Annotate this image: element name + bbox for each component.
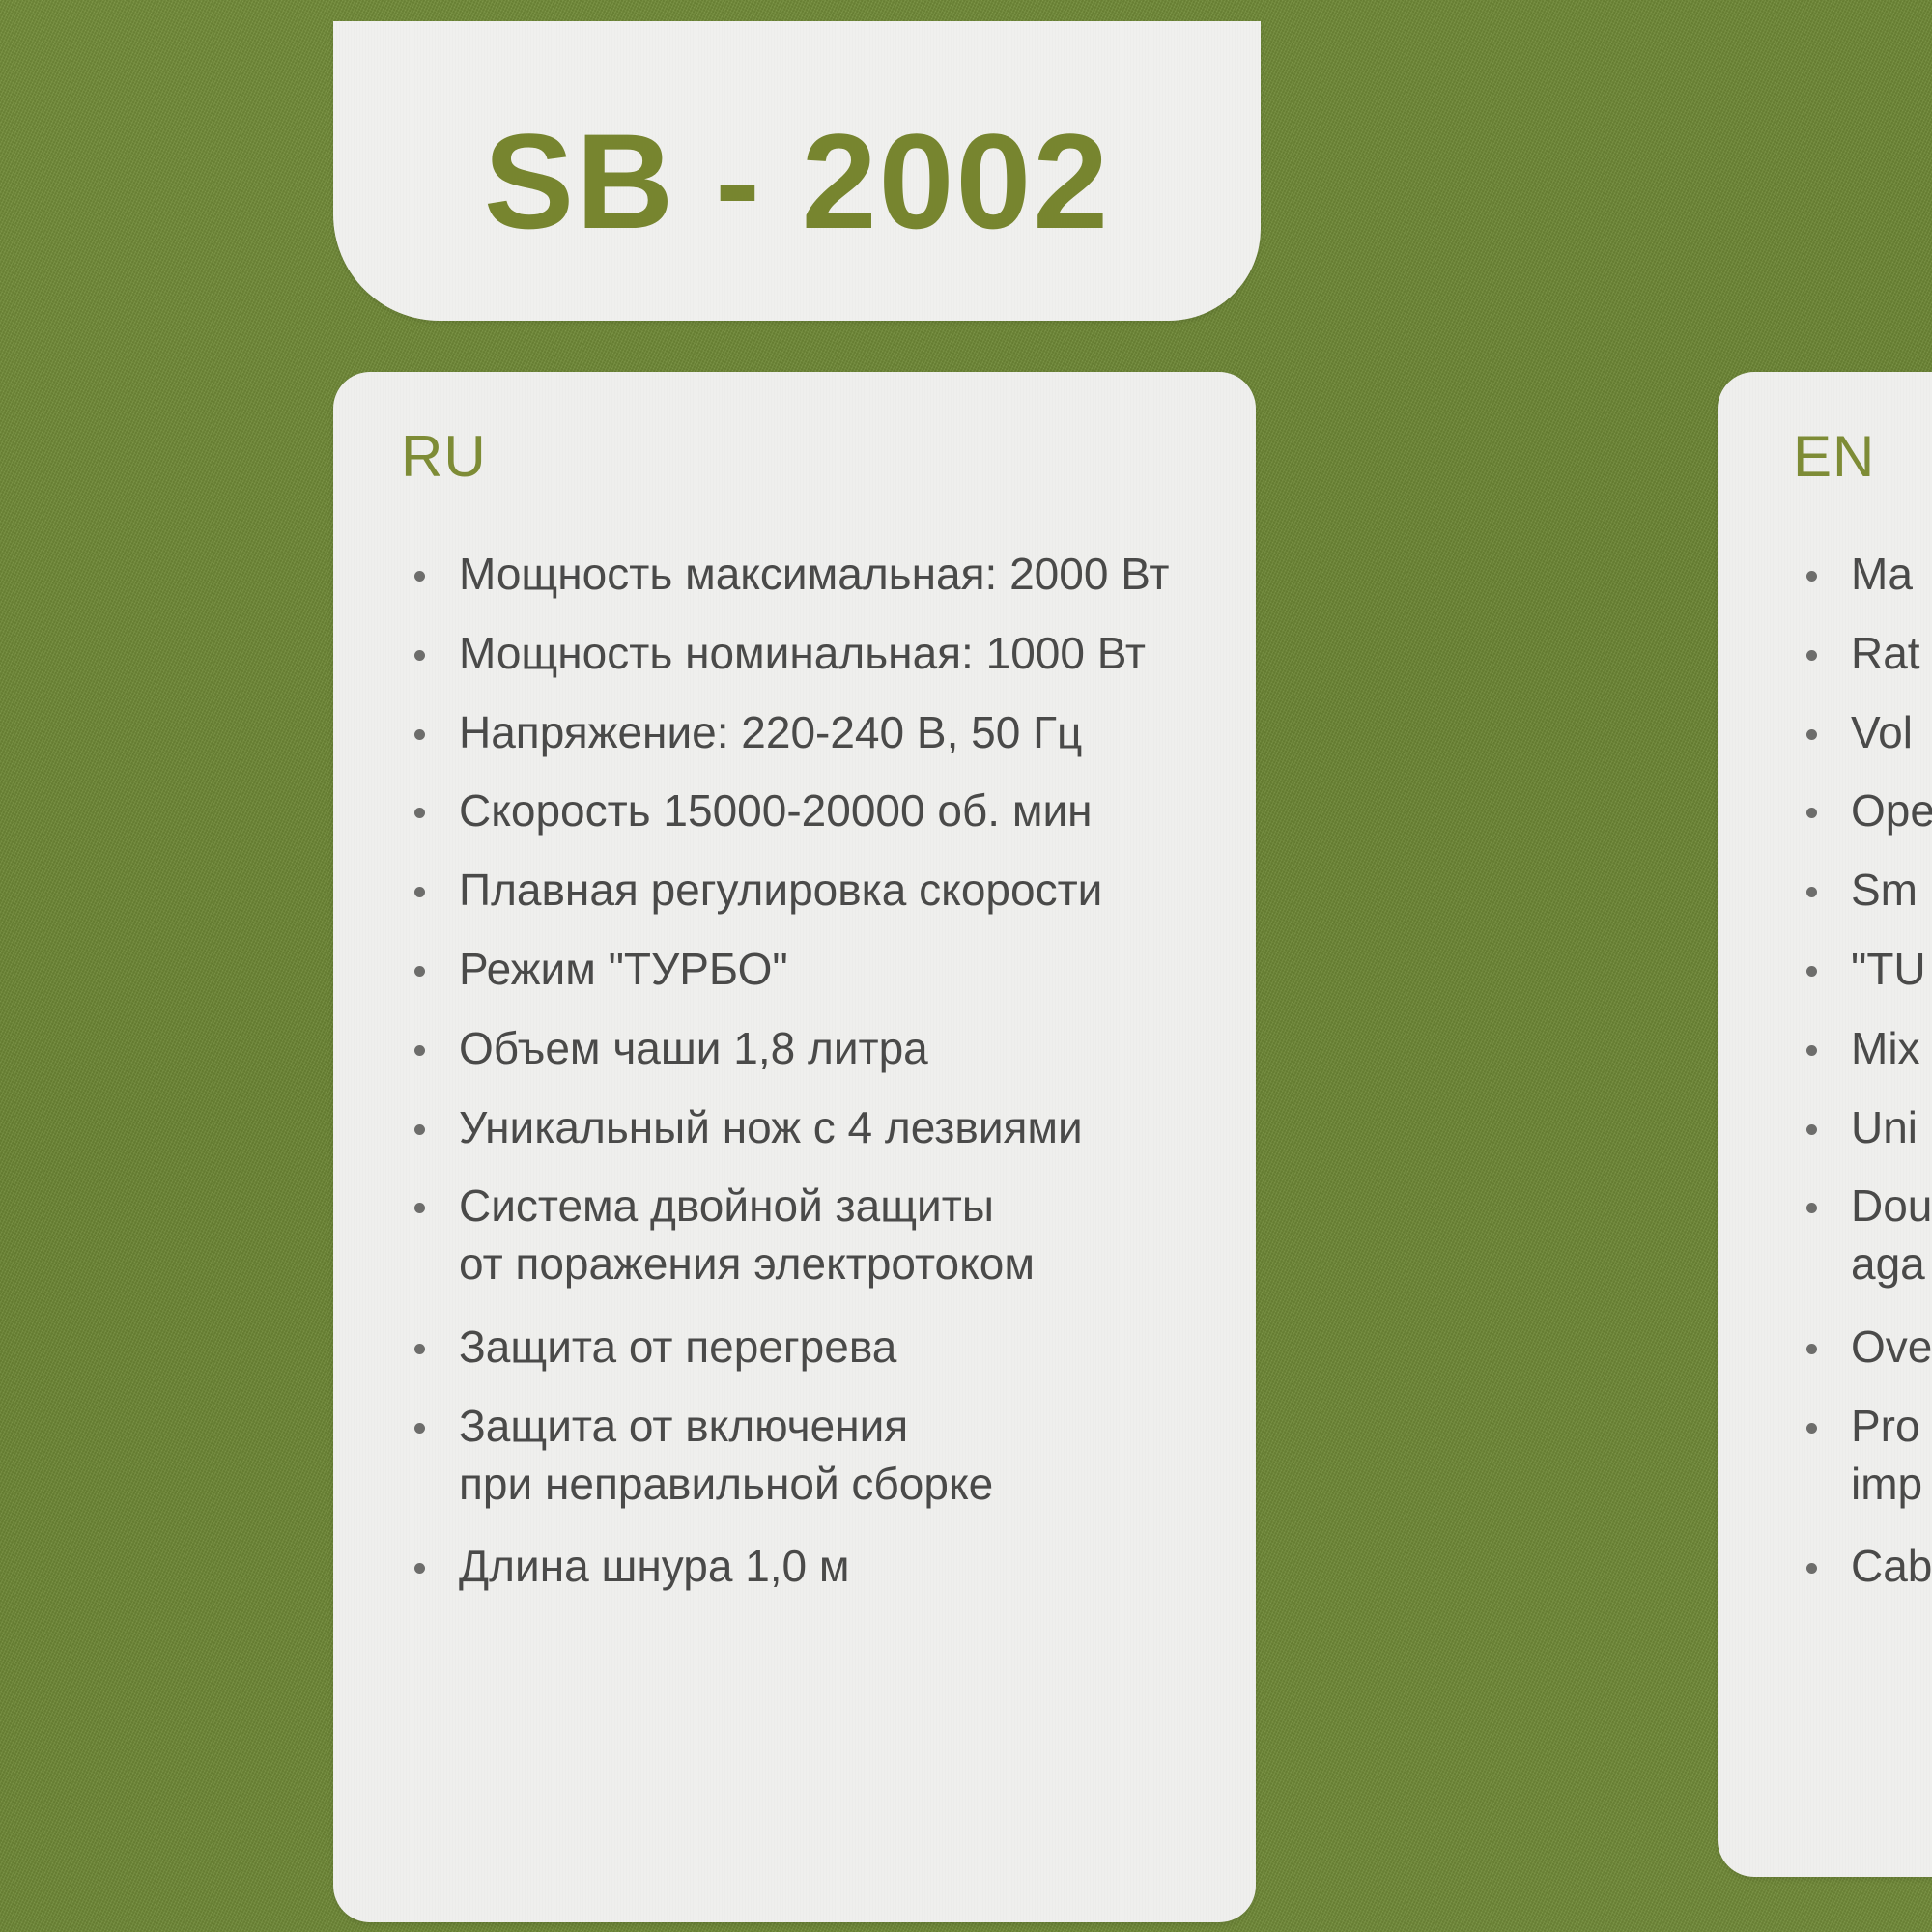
en-spec-item: "TU: [1793, 941, 1932, 999]
ru-spec-panel: RU Мощность максимальная: 2000 ВтМощност…: [333, 372, 1256, 1922]
model-number-title: SB - 2002: [333, 114, 1261, 249]
en-spec-item: Ope: [1793, 782, 1932, 840]
ru-spec-item: Мощность номинальная: 1000 Вт: [401, 625, 1236, 683]
ru-spec-list: Мощность максимальная: 2000 ВтМощность н…: [401, 546, 1236, 1617]
en-spec-list: MaRatVolOpeSm"TUMixUniDou agaOvePro impC…: [1793, 546, 1932, 1617]
en-spec-item: Vol: [1793, 704, 1932, 762]
ru-spec-item: Скорость 15000-20000 об. мин: [401, 782, 1236, 840]
ru-spec-item: Защита от перегрева: [401, 1319, 1236, 1377]
ru-spec-item: Уникальный нож с 4 лезвиями: [401, 1099, 1236, 1157]
ru-spec-item: Защита от включения при неправильной сбо…: [401, 1398, 1236, 1514]
ru-spec-item: Мощность максимальная: 2000 Вт: [401, 546, 1236, 604]
package-label-canvas: SB - 2002 RU Мощность максимальная: 2000…: [0, 0, 1932, 1932]
model-title-panel: SB - 2002: [333, 21, 1261, 321]
ru-spec-item: Напряжение: 220-240 В, 50 Гц: [401, 704, 1236, 762]
ru-spec-item: Длина шнура 1,0 м: [401, 1538, 1236, 1596]
ru-spec-item: Плавная регулировка скорости: [401, 862, 1236, 920]
ru-spec-item: Объем чаши 1,8 литра: [401, 1020, 1236, 1078]
en-spec-item: Sm: [1793, 862, 1932, 920]
en-spec-item: Rat: [1793, 625, 1932, 683]
en-spec-item: Ma: [1793, 546, 1932, 604]
ru-language-label: RU: [401, 428, 487, 486]
en-spec-panel: EN MaRatVolOpeSm"TUMixUniDou agaOvePro i…: [1718, 372, 1932, 1877]
ru-spec-item: Режим "ТУРБО": [401, 941, 1236, 999]
en-spec-item: Pro imp: [1793, 1398, 1932, 1514]
en-spec-item: Mix: [1793, 1020, 1932, 1078]
en-spec-item: Ove: [1793, 1319, 1932, 1377]
ru-spec-item: Система двойной защиты от поражения элек…: [401, 1178, 1236, 1293]
en-spec-item: Cab: [1793, 1538, 1932, 1596]
en-spec-item: Dou aga: [1793, 1178, 1932, 1293]
en-language-label: EN: [1793, 428, 1875, 486]
en-spec-item: Uni: [1793, 1099, 1932, 1157]
